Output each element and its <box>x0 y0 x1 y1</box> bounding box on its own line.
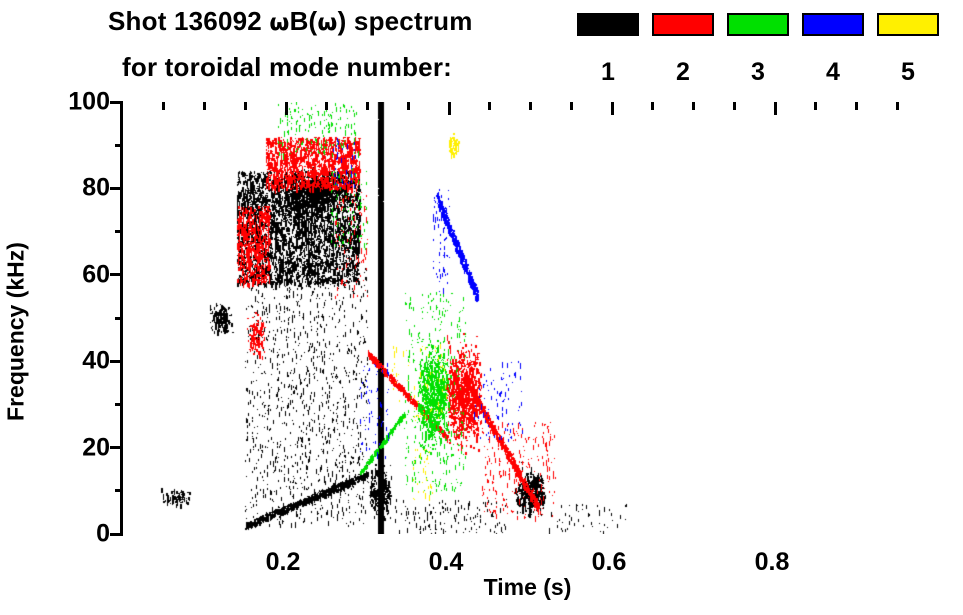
y-tick-label-0: 0 <box>96 522 110 547</box>
x-tick-minor <box>570 102 573 110</box>
y-tick-label-40: 40 <box>82 349 110 374</box>
x-axis-title: Time (s) <box>120 574 935 601</box>
x-tick-minor <box>488 102 491 110</box>
y-tick-minor <box>115 489 123 492</box>
legend-swatch-5 <box>877 13 939 36</box>
x-tick-minor <box>529 102 532 110</box>
y-tick-40 <box>110 360 123 363</box>
page-subtitle: for toroidal mode number: <box>122 52 452 83</box>
legend-label-2: 2 <box>652 58 714 87</box>
legend-swatch-3 <box>727 13 789 36</box>
x-tick-minor <box>203 102 206 110</box>
y-tick-minor <box>115 230 123 233</box>
x-tick-label-0.6: 0.6 <box>569 548 649 577</box>
x-tick-minor <box>366 102 369 110</box>
y-tick-minor <box>115 144 123 147</box>
y-tick-20 <box>110 446 123 449</box>
legend-label-5: 5 <box>877 58 939 87</box>
y-tick-minor <box>115 403 123 406</box>
legend-swatch-2 <box>652 13 714 36</box>
legend-label-1: 1 <box>577 58 639 87</box>
omega-symbol-1: ω <box>269 10 289 36</box>
legend-label-3: 3 <box>727 58 789 87</box>
x-tick-minor <box>651 102 654 110</box>
x-tick-minor <box>733 102 736 110</box>
x-tick-0.4 <box>448 102 451 115</box>
x-tick-0.2 <box>285 102 288 115</box>
y-tick-80 <box>110 187 123 190</box>
plot-area <box>120 102 935 534</box>
title-shot-text: Shot 136092 <box>108 6 269 36</box>
title-b-open: B( <box>290 6 318 36</box>
x-tick-0.6 <box>611 102 614 115</box>
x-tick-minor <box>407 102 410 110</box>
legend: 12345 <box>577 10 952 90</box>
x-tick-minor <box>814 102 817 110</box>
spectrogram-canvas <box>123 102 938 534</box>
legend-swatch-4 <box>802 13 864 36</box>
y-tick-label-100: 100 <box>68 90 110 115</box>
spectrogram-figure: Shot 136092 ωB(ω) spectrum for toroidal … <box>0 0 963 615</box>
x-tick-minor <box>244 102 247 110</box>
x-tick-minor <box>162 102 165 110</box>
x-tick-minor <box>325 102 328 110</box>
y-tick-label-60: 60 <box>82 262 110 287</box>
y-tick-label-80: 80 <box>82 176 110 201</box>
y-tick-label-20: 20 <box>82 435 110 460</box>
y-tick-minor <box>115 317 123 320</box>
y-axis-tick-labels: 020406080100 <box>38 102 110 534</box>
page-title: Shot 136092 ωB(ω) spectrum <box>108 6 473 37</box>
title-spectrum-text: ) spectrum <box>338 6 473 36</box>
x-tick-label-0.4: 0.4 <box>406 548 486 577</box>
y-axis-title: Frequency (kHz) <box>3 202 30 462</box>
legend-swatch-1 <box>577 13 639 36</box>
x-axis-tick-labels: 0.20.40.60.8 <box>120 534 935 574</box>
x-tick-minor <box>896 102 899 110</box>
x-tick-label-0.8: 0.8 <box>732 548 812 577</box>
x-tick-0.8 <box>774 102 777 115</box>
y-tick-100 <box>110 101 123 104</box>
legend-label-4: 4 <box>802 58 864 87</box>
x-tick-label-0.2: 0.2 <box>243 548 323 577</box>
omega-symbol-2: ω <box>317 10 337 36</box>
x-tick-minor <box>855 102 858 110</box>
x-tick-minor <box>692 102 695 110</box>
y-tick-60 <box>110 273 123 276</box>
